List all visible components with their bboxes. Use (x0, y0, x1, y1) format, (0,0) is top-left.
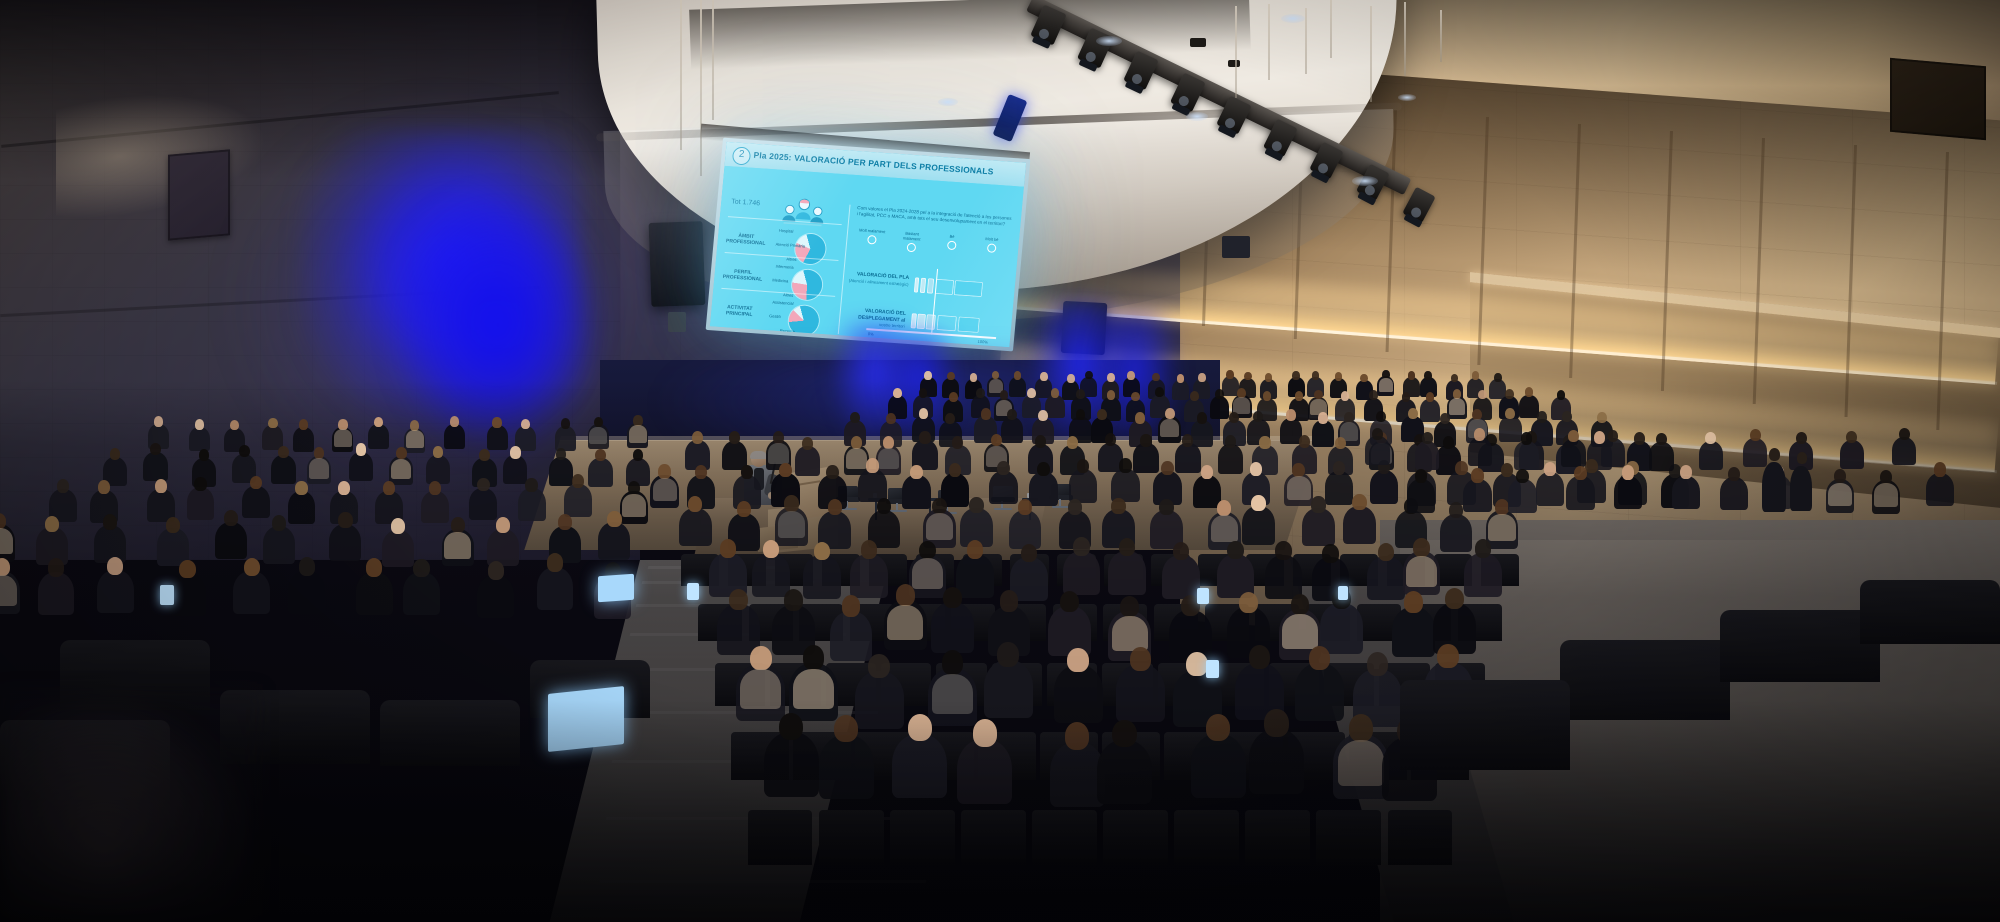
audience-garment-highlight (926, 513, 953, 540)
audience-body (1407, 479, 1436, 513)
audience-body (1108, 551, 1145, 595)
audience-head (1557, 390, 1566, 400)
auditorium-seat-back (1860, 580, 2000, 644)
audience-head (1367, 652, 1389, 676)
audience-body (1069, 469, 1098, 503)
audience-head (1038, 410, 1048, 421)
ceiling-hanger-rod (712, 0, 714, 120)
audience-head (199, 449, 210, 461)
audience-head (479, 449, 490, 461)
audience-garment-highlight (887, 605, 923, 640)
ceiling-hanger-rod (1404, 2, 1406, 76)
audience-body (1499, 416, 1521, 442)
ceiling-hanger-rod (1330, 0, 1332, 58)
audience-body (1415, 441, 1439, 470)
audience-head (244, 558, 260, 576)
audience-body (215, 522, 247, 560)
audience-body (487, 529, 519, 567)
audience-body (1325, 471, 1354, 505)
audience-body (830, 611, 873, 661)
audience-head (1201, 465, 1214, 479)
audience-head (1227, 541, 1244, 560)
audience-body (329, 524, 361, 562)
audience-head (1165, 408, 1175, 419)
audience-garment-highlight (1379, 378, 1393, 392)
audience-head (842, 595, 861, 616)
audience-garment-highlight (309, 458, 330, 478)
audience-head (1408, 371, 1416, 380)
audience-head (1376, 411, 1386, 422)
audience-body (1320, 603, 1363, 653)
audience-head (1076, 389, 1085, 399)
spotlight-lens (1130, 72, 1143, 85)
audience-head (1067, 374, 1075, 383)
audience-head (1574, 466, 1587, 480)
standing-attendee-head (1797, 452, 1807, 464)
audience-head (1335, 437, 1346, 450)
audience-head (295, 481, 307, 495)
audience-body (1302, 508, 1335, 546)
audience-head (1501, 463, 1514, 477)
audience-body (679, 508, 712, 546)
audience-body (1162, 555, 1199, 599)
audience-head (1073, 537, 1090, 556)
audience-head (1634, 432, 1645, 445)
audience-head (1478, 390, 1487, 400)
audience-head (1120, 596, 1139, 617)
audience-head (779, 463, 792, 477)
audience-head (1076, 409, 1086, 420)
audience-head (1130, 647, 1152, 671)
audience-head (1068, 499, 1082, 515)
audience-head (1299, 435, 1310, 448)
audience-garment-highlight (1282, 614, 1318, 649)
audience-head (1037, 462, 1050, 476)
audience-garment-highlight (878, 448, 899, 469)
audience-body (421, 491, 449, 524)
audience-head (1472, 371, 1480, 380)
audience-head (826, 465, 839, 479)
audience-head (1119, 538, 1136, 557)
audience-head (1369, 390, 1378, 400)
audience-head (179, 560, 195, 578)
audience-head (1198, 373, 1206, 382)
audience-head (1253, 411, 1263, 422)
audience-head (784, 589, 803, 610)
audience-body (1312, 420, 1334, 446)
audience-head (98, 480, 110, 494)
phone-screen-glow (1338, 586, 1348, 600)
audience-head (1415, 469, 1428, 483)
ceiling-vent (1190, 38, 1206, 47)
ceiling-downlight (1186, 112, 1208, 121)
audience-body (1029, 472, 1058, 506)
audience-head (224, 510, 238, 526)
audience-head (1516, 469, 1529, 483)
audience-head (1007, 409, 1017, 420)
audience-head (433, 446, 444, 458)
audience-head (103, 514, 117, 530)
audience-head (1119, 458, 1132, 472)
audience-body (263, 526, 295, 564)
audience-head (910, 465, 923, 479)
audience-head (1190, 391, 1199, 401)
spotlight-lens (1084, 50, 1097, 63)
audience-head (828, 499, 842, 515)
audience-body (1210, 396, 1230, 419)
audience-head (943, 587, 962, 608)
audience-head (851, 436, 862, 449)
audience-head (1177, 374, 1185, 383)
audience-body (717, 604, 760, 654)
audience-head (1186, 652, 1208, 676)
audience-head (1585, 459, 1598, 473)
audience-head (877, 498, 891, 514)
audience-head (932, 498, 946, 514)
audience-body (931, 602, 974, 652)
audience-head (1018, 499, 1032, 515)
audience-head (1127, 371, 1135, 380)
audience-garment-highlight (391, 459, 412, 479)
standing-attendee-head (1769, 448, 1780, 461)
audience-head (1286, 409, 1296, 420)
audience-head (492, 417, 501, 428)
ceiling-hanger-rod (1268, 4, 1270, 80)
audience-head (1312, 371, 1320, 380)
audience-head (594, 417, 603, 428)
audience-head (737, 501, 751, 517)
audience-body (477, 575, 514, 618)
audience-body (902, 475, 931, 509)
audience-body (537, 567, 574, 610)
audience-head (1525, 387, 1534, 397)
audience-head (488, 561, 504, 579)
audience-body (549, 457, 573, 486)
audience-head (194, 477, 206, 491)
audience-head (391, 518, 405, 534)
audience-head (547, 553, 563, 571)
screen-sheen (710, 142, 1026, 347)
audience-head (1728, 467, 1741, 481)
audience-body (288, 491, 316, 524)
ceiling-hanger-rod (1440, 10, 1442, 62)
audience-garment-highlight (1287, 476, 1311, 500)
audience-head (1077, 459, 1090, 473)
audience-head (195, 419, 204, 430)
audience-head (803, 645, 825, 669)
audience-body (487, 425, 508, 450)
audience-head (1352, 494, 1366, 510)
audience-head (763, 540, 780, 559)
audience-head (558, 514, 572, 530)
audience-body (1440, 514, 1473, 552)
audience-head (338, 481, 350, 495)
audience-head (1402, 392, 1411, 402)
audience-head (1309, 646, 1331, 670)
audience-body (989, 471, 1018, 505)
audience-head (150, 443, 161, 455)
auditorium-photo: 2 Pla 2025: VALORACIÓ PER PART DELS PROF… (0, 0, 2000, 922)
audience-body (803, 555, 840, 599)
standing-attendee (1790, 466, 1812, 511)
audience-head (720, 539, 737, 558)
audience-head (48, 558, 64, 576)
audience-body (1601, 438, 1625, 467)
audience-head (1295, 391, 1304, 401)
audience-head (1259, 436, 1270, 449)
audience-head (1014, 371, 1022, 380)
audience-garment-highlight (629, 425, 647, 442)
audience-head (57, 479, 69, 493)
audience-head (1237, 388, 1246, 398)
audience-body (444, 424, 465, 449)
audience-head (451, 517, 465, 533)
audience-head (1182, 434, 1193, 447)
audience-head (278, 446, 289, 458)
audience-head (338, 419, 347, 430)
audience-body (1370, 470, 1399, 504)
audience-body (38, 572, 75, 615)
audience-head (1934, 462, 1947, 476)
audience-head (729, 431, 740, 444)
audience-head (1422, 432, 1433, 444)
audience-head (1217, 500, 1231, 516)
laptop-screen-glow (598, 574, 634, 603)
audience-head (1750, 429, 1761, 441)
audience-head (868, 654, 890, 678)
audience-garment-highlight (1160, 419, 1179, 437)
audience-head (1173, 542, 1190, 561)
audience-head (1292, 463, 1305, 477)
audience-head (366, 558, 382, 576)
phone-screen-glow (160, 585, 174, 605)
audience-head (1562, 411, 1572, 422)
audience-head (633, 415, 642, 426)
audience-body (1172, 380, 1189, 400)
audience-body (143, 452, 167, 481)
audience-head (1440, 413, 1450, 424)
audience-head (250, 476, 262, 490)
audience-head (1225, 435, 1236, 448)
audience-garment-highlight (1828, 483, 1852, 507)
audience-body (1365, 436, 1389, 465)
audience-body (598, 522, 630, 560)
standing-attendee (1762, 462, 1786, 512)
slide-surface: 2 Pla 2025: VALORACIÓ PER PART DELS PROF… (710, 142, 1026, 347)
audience-body (1367, 556, 1404, 600)
ceiling-downlight (1352, 176, 1378, 186)
audience-body (1464, 553, 1501, 597)
audience-body (189, 427, 210, 452)
audience-head (1322, 544, 1339, 563)
audience-body (1720, 477, 1749, 511)
audience-head (338, 512, 352, 528)
audience-head (729, 589, 748, 610)
audience-head (1404, 591, 1423, 612)
ceiling-downlight (1281, 14, 1305, 23)
audience-body (1508, 479, 1537, 513)
audience-head (1474, 428, 1485, 440)
audience-head (1051, 388, 1060, 398)
audience-body (1222, 376, 1239, 396)
audience-head (802, 437, 813, 450)
audience-head (976, 388, 985, 398)
audience-garment-highlight (1211, 515, 1238, 542)
audience-garment-highlight (334, 429, 352, 446)
audience-head (230, 420, 239, 431)
audience-garment-highlight (768, 443, 789, 464)
phone-screen-glow (1206, 660, 1219, 678)
audience-head (1372, 428, 1383, 440)
audience-head (1159, 499, 1173, 515)
audience-head (947, 372, 955, 381)
audience-head (1378, 543, 1395, 562)
audience-head (1472, 409, 1482, 420)
audience-body (1519, 395, 1539, 418)
audience-head (1880, 470, 1893, 484)
audience-head (919, 388, 928, 398)
audience-body (1840, 440, 1864, 469)
audience-head (1135, 412, 1145, 423)
audience-head (299, 419, 308, 430)
phone-screen-glow (1197, 588, 1209, 604)
audience-head (556, 448, 567, 460)
ceiling-hanger-rod (680, 0, 682, 150)
audience-head (1622, 465, 1635, 479)
audience-body (1045, 395, 1065, 418)
ceiling-hanger-rod (1235, 6, 1237, 98)
audience-head (850, 412, 860, 423)
audience-head (154, 416, 163, 427)
audience-head (886, 413, 896, 424)
audience-body (555, 426, 576, 451)
spotlight-lens (1223, 117, 1236, 130)
audience-head (1846, 431, 1857, 443)
audience-head (410, 420, 419, 431)
auditorium-seat-back (1720, 610, 1880, 682)
audience-body (1175, 443, 1200, 473)
audience-body (850, 554, 887, 598)
audience-head (356, 443, 367, 455)
audience-head (1834, 469, 1847, 483)
audience-head (496, 517, 510, 533)
audience-body (1001, 417, 1023, 443)
audience-body (382, 530, 414, 568)
audience-head (1105, 433, 1116, 446)
audience-head (1597, 412, 1607, 423)
audience-head (861, 540, 878, 559)
audience-head (1544, 462, 1557, 476)
audience-head (997, 461, 1010, 475)
audience-body (1699, 441, 1723, 470)
audience-body (1242, 506, 1275, 544)
audience-head (1475, 539, 1492, 558)
audience-head (272, 515, 286, 531)
audience-head (1344, 412, 1354, 423)
audience-head (1796, 432, 1807, 444)
audience-body (1133, 443, 1158, 473)
audience-garment-highlight (1449, 398, 1466, 414)
audience-garment-highlight (778, 511, 805, 538)
audience-head (1152, 373, 1160, 382)
wall-mounted-speaker (668, 312, 686, 332)
ceiling-downlight (1096, 36, 1122, 46)
audience-head (1292, 371, 1300, 380)
audience-body (1343, 506, 1376, 544)
audience-head (1275, 541, 1292, 560)
audience-head (1608, 430, 1619, 442)
audience-head (814, 542, 831, 561)
audience-head (1107, 390, 1116, 400)
audience-head (773, 431, 784, 444)
audience-head (413, 559, 429, 577)
audience-body (1468, 437, 1492, 466)
audience-head (1161, 461, 1174, 475)
wall-mounted-speaker (1222, 236, 1250, 258)
audience-head (628, 481, 640, 495)
audience-head (1449, 502, 1463, 518)
wall-recess-panel (168, 149, 230, 240)
audience-head (1705, 432, 1716, 444)
audience-head (970, 373, 978, 382)
audience-head (450, 416, 459, 427)
audience-head (741, 465, 754, 479)
ceiling-vent (1228, 60, 1240, 67)
audience-head (919, 541, 936, 560)
audience-head (997, 642, 1019, 666)
audience-head (942, 650, 964, 674)
audience-head (561, 418, 570, 429)
audience-head (1111, 498, 1125, 514)
audience-body (1111, 469, 1140, 503)
audience-body (1265, 555, 1302, 599)
audience-body (1672, 476, 1701, 510)
audience-head (1437, 644, 1459, 668)
audience-head (1494, 373, 1502, 382)
audience-head (949, 463, 962, 477)
audience-head (155, 479, 167, 493)
audience-garment-highlight (1488, 514, 1515, 541)
audience-head (981, 408, 991, 419)
audience-head (510, 446, 521, 458)
audience-head (572, 474, 584, 488)
audience-head (1341, 391, 1350, 401)
audience-garment-highlight (653, 478, 677, 502)
audience-body (795, 446, 820, 476)
audience-head (750, 646, 772, 670)
wall-recess-frame (1890, 58, 1986, 140)
audience-head (695, 465, 708, 479)
audience-body (288, 571, 325, 614)
audience-body (1892, 437, 1916, 466)
audience-body (1218, 444, 1243, 474)
spotlight-lens (1270, 139, 1283, 152)
audience-body (293, 427, 314, 452)
audience-head (1027, 388, 1036, 398)
audience-body (1009, 510, 1042, 548)
audience-head (896, 584, 915, 605)
audience-head (1656, 433, 1667, 445)
audience-head (1899, 428, 1910, 440)
audience-garment-highlight (1874, 483, 1898, 507)
audience-body (426, 455, 450, 484)
audience-body (1514, 441, 1538, 470)
audience-body (518, 488, 546, 521)
audience-head (314, 447, 325, 459)
audience-body (169, 573, 206, 616)
audience-head (166, 517, 180, 533)
audience-head (1471, 468, 1484, 482)
